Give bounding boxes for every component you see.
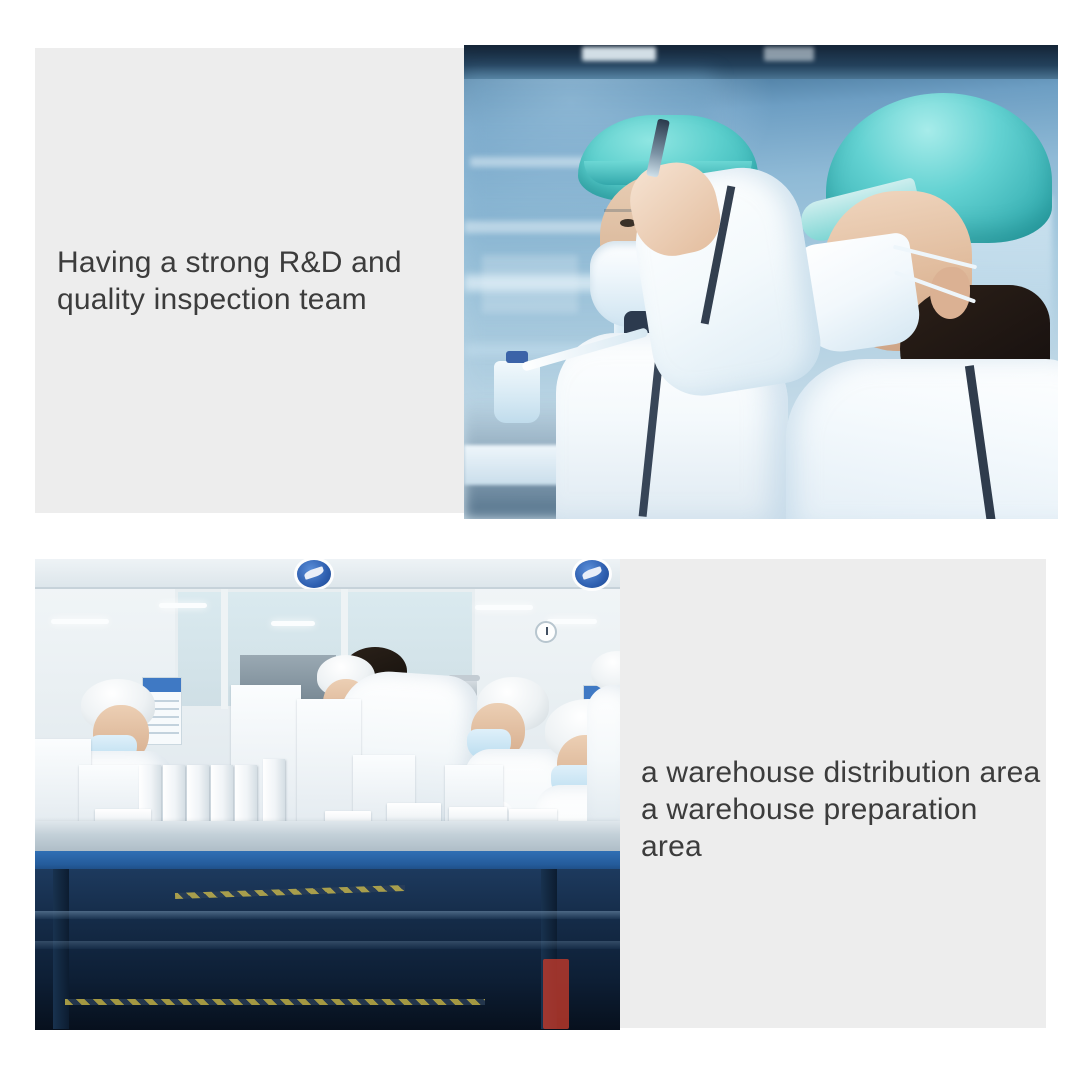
carton-upright [163,765,185,827]
lab-ceiling-band [464,45,1058,79]
carton-upright [263,759,285,827]
ceiling-light-tube-icon [51,619,109,624]
reagent-bottle-icon [494,361,540,423]
carton-upright [235,765,257,827]
floor-tape [65,999,485,1005]
carton-upright [187,765,209,827]
worker-5 [587,651,620,831]
window-mullion [221,589,228,709]
ceiling-lamp-icon [582,47,656,61]
lab-coat [786,359,1058,519]
ceiling-lamp-icon [764,47,814,61]
company-logo-sign-icon [575,560,609,588]
ceiling-light-tube-icon [271,621,315,626]
company-logo-sign-icon [297,560,331,588]
wall-clock-icon [535,621,557,643]
carton-stack [297,699,361,825]
steel-table-top [35,821,620,855]
carton-upright [211,765,233,827]
photo-warehouse-packing [35,559,620,1030]
table-leg [53,869,69,1029]
caption-rd-quality: Having a strong R&D and quality inspecti… [57,244,457,318]
ceiling-light-tube-icon [475,605,533,610]
table-rail [35,911,620,919]
caption-warehouse: a warehouse distribution area a warehous… [641,754,1041,865]
red-object [543,959,569,1029]
ceiling-light-tube-icon [547,619,597,624]
ceiling-light-tube-icon [159,603,207,608]
table-rail [35,941,620,949]
poster-canvas: Having a strong R&D and quality inspecti… [0,0,1080,1080]
lab-coat [587,685,620,835]
technician-right [780,79,1058,519]
photo-rd-quality-lab [464,45,1058,519]
